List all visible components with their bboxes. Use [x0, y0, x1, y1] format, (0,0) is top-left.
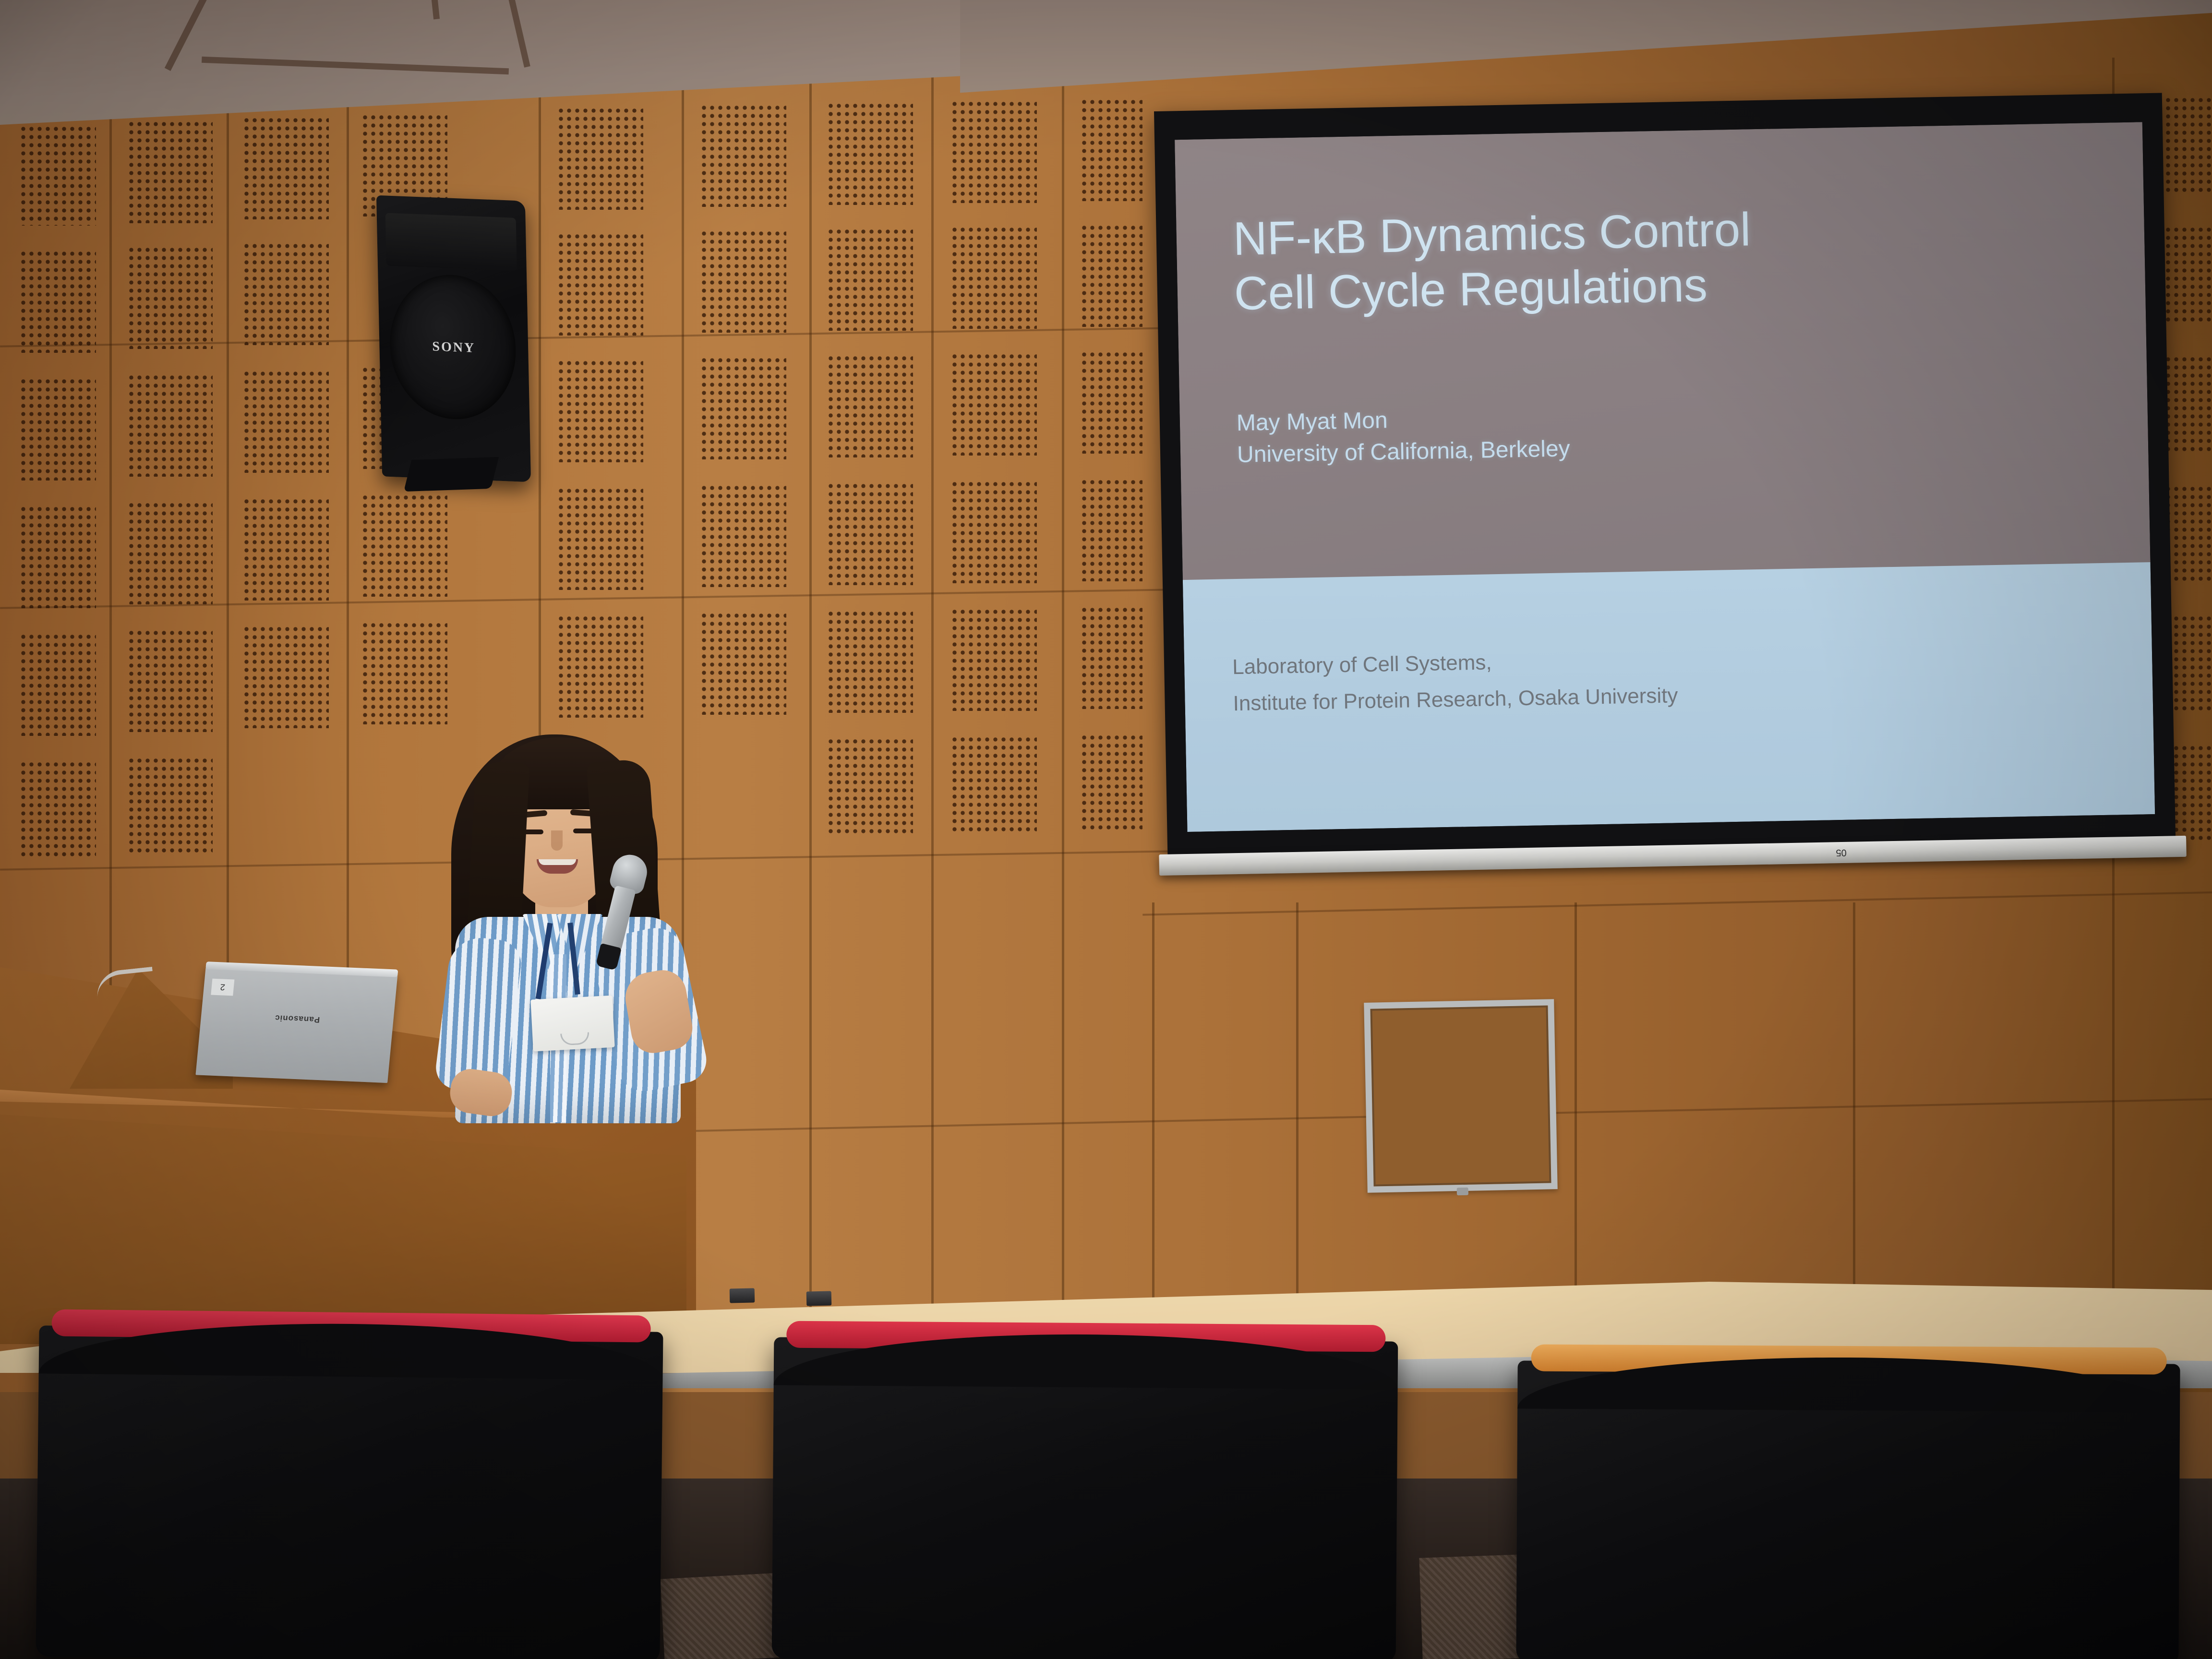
acoustic-panel — [827, 482, 913, 585]
acoustic-panel — [827, 228, 913, 331]
laptop-brand-logo: Panasonic — [274, 1013, 320, 1024]
slide-title: NF-κB Dynamics Control Cell Cycle Regula… — [1233, 198, 2003, 321]
laptop[interactable]: 2 Panasonic — [195, 966, 397, 1083]
wall-seam — [931, 58, 934, 1354]
acoustic-panel — [19, 633, 96, 736]
presentation-slide: NF-κB Dynamics Control Cell Cycle Regula… — [1175, 122, 2155, 832]
acoustic-panel — [557, 487, 643, 590]
acoustic-panel — [242, 497, 329, 601]
acoustic-panel — [827, 102, 913, 205]
chair-right[interactable] — [1516, 1360, 2180, 1659]
badge-clip — [560, 1032, 589, 1046]
ceiling-seam — [202, 57, 509, 75]
acoustic-panel — [827, 737, 913, 833]
acoustic-panel — [700, 356, 786, 459]
acoustic-panel — [950, 608, 1037, 711]
name-badge — [530, 996, 614, 1052]
acoustic-panel — [1080, 733, 1142, 829]
acoustic-panel — [950, 735, 1037, 831]
acoustic-panel — [1080, 350, 1142, 454]
table-clip — [730, 1288, 755, 1303]
acoustic-panel — [557, 614, 643, 718]
acoustic-panel — [827, 610, 913, 713]
acoustic-panel — [19, 505, 96, 608]
acoustic-panel — [127, 501, 213, 604]
chair-left[interactable] — [36, 1325, 663, 1659]
acoustic-panel — [557, 359, 643, 462]
acoustic-panel — [700, 229, 786, 333]
ceiling-seam — [431, 0, 440, 20]
acoustic-panel — [127, 246, 213, 349]
ceiling-seam — [165, 0, 208, 71]
hatch-latch[interactable] — [1457, 1188, 1468, 1195]
acoustic-panel — [950, 226, 1037, 329]
chair-center[interactable] — [772, 1337, 1398, 1659]
acoustic-panel — [127, 373, 213, 477]
slide-top-band — [1175, 122, 2151, 583]
wall-access-hatch[interactable] — [1364, 999, 1558, 1193]
acoustic-panel — [19, 377, 96, 481]
presenter-teeth — [539, 859, 576, 865]
microphone-base — [596, 943, 622, 971]
acoustic-panel — [557, 107, 643, 210]
acoustic-panel — [242, 370, 329, 473]
acoustic-panel — [19, 250, 96, 353]
slide-author-block: May Myat Mon University of California, B… — [1236, 394, 1957, 471]
acoustic-panel — [1080, 98, 1142, 201]
acoustic-panel — [242, 242, 329, 345]
acoustic-panel — [700, 104, 786, 207]
acoustic-panel — [950, 100, 1037, 203]
acoustic-panel — [19, 760, 96, 856]
acoustic-panel — [700, 612, 786, 715]
presenter-nose — [551, 830, 563, 851]
acoustic-panel — [950, 480, 1037, 583]
acoustic-panel — [700, 484, 786, 587]
acoustic-panel — [950, 352, 1037, 456]
projection-screen: NF-κB Dynamics Control Cell Cycle Regula… — [1154, 92, 2212, 885]
acoustic-panel — [1080, 478, 1142, 581]
acoustic-panel — [1080, 606, 1142, 709]
wall-speaker: SONY — [376, 195, 531, 482]
acoustic-panel — [827, 354, 913, 457]
acoustic-panel — [557, 232, 643, 336]
wall-seam — [809, 58, 812, 1354]
acoustic-panel — [1080, 224, 1142, 327]
presenter — [413, 729, 710, 1113]
table-clip — [806, 1291, 832, 1306]
screen-frame: NF-κB Dynamics Control Cell Cycle Regula… — [1154, 93, 2176, 860]
acoustic-panel — [242, 625, 329, 728]
screen-bar-marking: 05 — [1836, 847, 1847, 858]
acoustic-panel — [242, 116, 329, 219]
acoustic-panel — [127, 629, 213, 732]
acoustic-panel — [127, 120, 213, 223]
acoustic-panel — [127, 757, 213, 853]
slide-footer-block: Laboratory of Cell Systems, Institute fo… — [1232, 634, 2049, 721]
ceiling-seam — [506, 0, 530, 68]
acoustic-panel — [361, 621, 447, 724]
speaker-bracket — [404, 457, 499, 492]
laptop-number-sticker: 2 — [211, 979, 234, 996]
acoustic-panel — [361, 493, 447, 597]
acoustic-panel — [19, 125, 96, 226]
lecture-hall-photo: SONY NF-κB Dynamics Control Cell Cycle R… — [0, 0, 2212, 1659]
wall-seam — [1062, 58, 1064, 1354]
